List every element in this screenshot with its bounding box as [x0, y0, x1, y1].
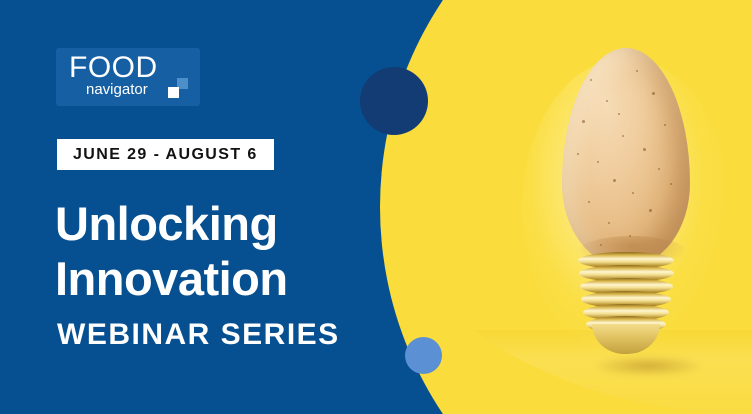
logo-primary-text: FOOD [69, 51, 158, 85]
logo-square-white-icon [168, 87, 179, 98]
headline-line-2: Innovation [55, 251, 288, 306]
date-badge-label: JUNE 29 - AUGUST 6 [73, 146, 258, 164]
webinar-promo-banner: FOOD navigator JUNE 29 - AUGUST 6 Unlock… [0, 0, 752, 414]
logo-mark-icon [168, 78, 188, 98]
bulb-screw-base [578, 252, 674, 348]
navy-circle [360, 67, 428, 135]
headline-line-1: Unlocking [55, 196, 288, 251]
egg-lightbulb-illustration [556, 48, 696, 378]
bulb-drop-shadow [594, 356, 702, 376]
light-blue-circle [405, 337, 442, 374]
logo-secondary-text: navigator [86, 81, 148, 99]
page-title: Unlocking Innovation [55, 196, 288, 306]
subtitle: WEBINAR SERIES [57, 318, 340, 352]
foodnavigator-logo[interactable]: FOOD navigator [56, 48, 200, 106]
date-badge: JUNE 29 - AUGUST 6 [57, 139, 274, 170]
